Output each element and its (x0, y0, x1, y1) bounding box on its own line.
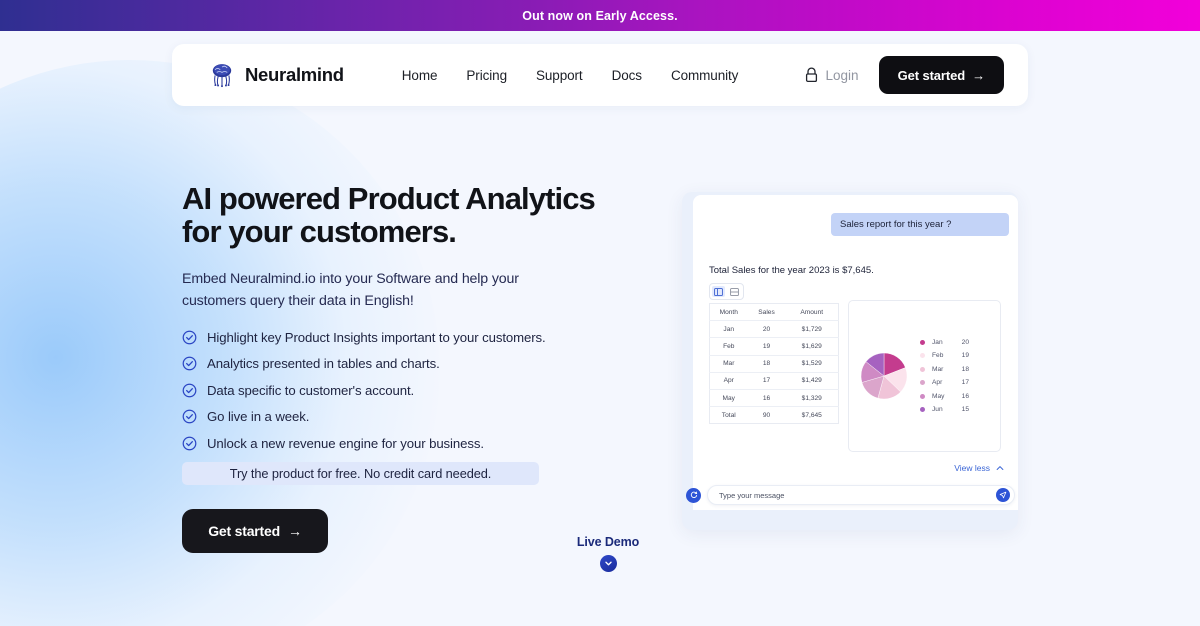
legend-color-swatch (920, 353, 925, 358)
view-toggle-group (709, 283, 744, 300)
legend-item: Feb 19 (920, 352, 969, 359)
lock-icon (804, 67, 819, 83)
column-header-sales: Sales (748, 304, 786, 321)
legend-label: Mar (932, 366, 950, 373)
chevron-up-icon (996, 465, 1004, 471)
message-input[interactable]: Type your message (707, 485, 1015, 505)
legend-item: Mar 18 (920, 366, 969, 373)
feature-list: Highlight key Product Insights important… (182, 330, 612, 451)
login-button[interactable]: Login (804, 67, 859, 83)
legend-label: Apr (932, 379, 950, 386)
table-header-row: Month Sales Amount (710, 304, 839, 321)
check-circle-icon (182, 409, 197, 424)
check-circle-icon (182, 383, 197, 398)
cell-month: Apr (710, 372, 748, 389)
list-item: Unlock a new revenue engine for your bus… (182, 436, 612, 451)
legend-value: 19 (957, 352, 969, 359)
legend-item: Jun 15 (920, 406, 969, 413)
check-circle-icon (182, 436, 197, 451)
check-circle-icon (182, 330, 197, 345)
table-row-total: Total 90 $7,645 (710, 407, 839, 424)
nav-item-docs[interactable]: Docs (612, 68, 642, 83)
main-navigation: Home Pricing Support Docs Community (402, 68, 739, 83)
feature-text: Go live in a week. (207, 409, 309, 424)
send-button[interactable] (996, 488, 1010, 502)
refresh-button[interactable] (686, 488, 701, 503)
column-header-amount: Amount (786, 304, 839, 321)
brain-jellyfish-icon (208, 61, 236, 89)
product-demo-panel: Sales report for this year ? Total Sales… (682, 192, 1018, 530)
table-row: Mar 18 $1,529 (710, 355, 839, 372)
brand-logo[interactable]: Neuralmind (208, 61, 344, 89)
chevron-down-icon (604, 559, 613, 568)
view-less-button[interactable]: View less (954, 463, 1004, 473)
feature-text: Analytics presented in tables and charts… (207, 356, 440, 371)
nav-item-pricing[interactable]: Pricing (466, 68, 507, 83)
table-view-toggle[interactable] (712, 286, 725, 297)
cell-amount: $7,645 (786, 407, 839, 424)
assistant-answer-text: Total Sales for the year 2023 is $7,645. (709, 265, 874, 276)
list-item: Go live in a week. (182, 409, 612, 424)
legend-color-swatch (920, 380, 925, 385)
column-header-month: Month (710, 304, 748, 321)
cell-month: Total (710, 407, 748, 424)
page-title: AI powered Product Analytics for your cu… (182, 182, 612, 249)
table-icon (714, 288, 723, 296)
chat-input-bar: Type your message (686, 484, 1015, 506)
list-item: Data specific to customer's account. (182, 383, 612, 398)
login-label: Login (826, 68, 859, 83)
legend-label: Jan (932, 339, 950, 346)
table-row: Apr 17 $1,429 (710, 372, 839, 389)
cell-month: Jan (710, 321, 748, 338)
legend-label: May (932, 393, 950, 400)
arrow-right-icon: → (288, 523, 302, 539)
refresh-icon (690, 491, 698, 499)
send-icon (999, 491, 1007, 499)
header-get-started-button[interactable]: Get started → (879, 56, 1004, 94)
announcement-text: Out now on Early Access. (522, 9, 677, 23)
legend-value: 15 (957, 406, 969, 413)
site-header: Neuralmind Home Pricing Support Docs Com… (172, 44, 1028, 106)
cell-sales: 19 (748, 338, 786, 355)
check-circle-icon (182, 356, 197, 371)
cell-month: Feb (710, 338, 748, 355)
cell-amount: $1,529 (786, 355, 839, 372)
legend-label: Feb (932, 352, 950, 359)
header-actions: Login Get started → (804, 56, 1004, 94)
cell-sales: 16 (748, 389, 786, 406)
cell-sales: 20 (748, 321, 786, 338)
list-item: Highlight key Product Insights important… (182, 330, 612, 345)
cell-month: May (710, 389, 748, 406)
legend-value: 16 (957, 393, 969, 400)
brand-name: Neuralmind (245, 64, 344, 86)
scroll-down-button[interactable] (600, 555, 617, 572)
table-row: Jan 20 $1,729 (710, 321, 839, 338)
pie-legend: Jan 20 Feb 19 Mar 18 Apr 17 (920, 339, 969, 414)
cell-sales: 17 (748, 372, 786, 389)
nav-item-support[interactable]: Support (536, 68, 583, 83)
feature-text: Data specific to customer's account. (207, 383, 414, 398)
cell-amount: $1,629 (786, 338, 839, 355)
feature-text: Unlock a new revenue engine for your bus… (207, 436, 484, 451)
chart-view-toggle[interactable] (728, 286, 741, 297)
table-row: Feb 19 $1,629 (710, 338, 839, 355)
hero-section: AI powered Product Analytics for your cu… (182, 182, 612, 553)
legend-item: Apr 17 (920, 379, 969, 386)
cell-sales: 18 (748, 355, 786, 372)
hero-get-started-button[interactable]: Get started → (182, 509, 328, 553)
rows-icon (730, 288, 739, 296)
arrow-right-icon: → (972, 68, 985, 83)
pie-chart-card: Jan 20 Feb 19 Mar 18 Apr 17 (848, 300, 1001, 452)
live-demo-marker: Live Demo (575, 535, 641, 572)
user-message-bubble: Sales report for this year ? (831, 213, 1009, 236)
legend-color-swatch (920, 340, 925, 345)
table-row: May 16 $1,329 (710, 389, 839, 406)
cell-amount: $1,729 (786, 321, 839, 338)
sales-table: Month Sales Amount Jan 20 $1,729 Feb 19 … (709, 303, 839, 424)
cell-amount: $1,429 (786, 372, 839, 389)
legend-color-swatch (920, 407, 925, 412)
legend-color-swatch (920, 367, 925, 372)
live-demo-label: Live Demo (575, 535, 641, 549)
legend-color-swatch (920, 394, 925, 399)
nav-item-home[interactable]: Home (402, 68, 438, 83)
cell-month: Mar (710, 355, 748, 372)
feature-text: Highlight key Product Insights important… (207, 330, 546, 345)
legend-value: 18 (957, 366, 969, 373)
view-less-label: View less (954, 463, 990, 473)
cell-sales: 90 (748, 407, 786, 424)
cell-amount: $1,329 (786, 389, 839, 406)
pie-chart (859, 351, 909, 401)
announcement-banner: Out now on Early Access. (0, 0, 1200, 31)
message-placeholder: Type your message (719, 491, 996, 500)
hero-get-started-label: Get started (208, 523, 280, 539)
demo-chat-surface: Sales report for this year ? Total Sales… (693, 195, 1018, 510)
legend-value: 20 (957, 339, 969, 346)
legend-value: 17 (957, 379, 969, 386)
free-trial-note: Try the product for free. No credit card… (182, 462, 539, 485)
legend-item: Jan 20 (920, 339, 969, 346)
header-get-started-label: Get started (898, 68, 966, 83)
nav-item-community[interactable]: Community (671, 68, 738, 83)
legend-label: Jun (932, 406, 950, 413)
legend-item: May 16 (920, 393, 969, 400)
list-item: Analytics presented in tables and charts… (182, 356, 612, 371)
hero-subtitle: Embed Neuralmind.io into your Software a… (182, 268, 612, 312)
